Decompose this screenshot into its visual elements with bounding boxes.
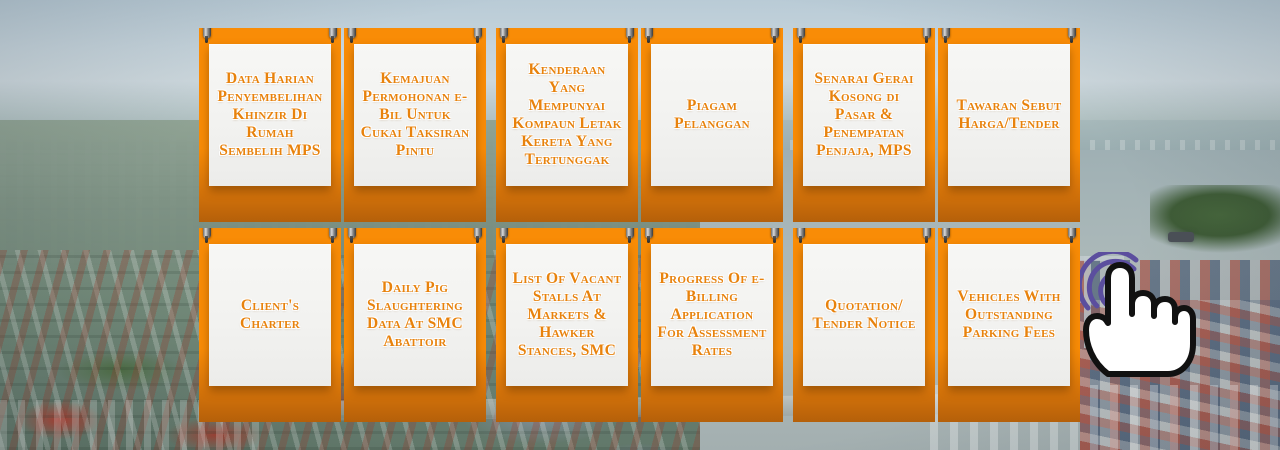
- card-sheet[interactable]: Quotation/ Tender Notice: [803, 244, 925, 386]
- pin-icon: [203, 28, 211, 38]
- pin-icon: [771, 228, 779, 238]
- pin-icon: [942, 228, 950, 238]
- pin-icon: [474, 28, 482, 38]
- card-title: Client's Charter: [209, 297, 331, 333]
- pin-icon: [348, 28, 356, 38]
- card-title: Daily Pig Slaughtering Data At SMC Abatt…: [354, 279, 476, 351]
- card-sheet[interactable]: List Of Vacant Stalls At Markets & Hawke…: [506, 244, 628, 386]
- pin-icon: [203, 228, 211, 238]
- pin-icon: [797, 228, 805, 238]
- card-panel[interactable]: Senarai Gerai Kosong di Pasar & Penempat…: [793, 28, 935, 222]
- card-row-bottom: Client's CharterDaily Pig Slaughtering D…: [0, 228, 1280, 422]
- card-panel[interactable]: Kenderaan Yang Mempunyai Kompaun Letak K…: [496, 28, 638, 222]
- card-sheet[interactable]: Kenderaan Yang Mempunyai Kompaun Letak K…: [506, 44, 628, 186]
- card-sheet[interactable]: Tawaran Sebut Harga/Tender: [948, 44, 1070, 186]
- card-title: Vehicles With Outstanding Parking Fees: [948, 288, 1070, 342]
- card-panel[interactable]: Quotation/ Tender Notice: [793, 228, 935, 422]
- card-panel[interactable]: Tawaran Sebut Harga/Tender: [938, 28, 1080, 222]
- pin-icon: [771, 28, 779, 38]
- card-sheet[interactable]: Piagam Pelanggan: [651, 44, 773, 186]
- card-panel[interactable]: List Of Vacant Stalls At Markets & Hawke…: [496, 228, 638, 422]
- card-title: Kenderaan Yang Mempunyai Kompaun Letak K…: [506, 61, 628, 169]
- card-panel[interactable]: Piagam Pelanggan: [641, 28, 783, 222]
- card-panel[interactable]: Kemajuan Permohonan e-Bil Untuk Cukai Ta…: [344, 28, 486, 222]
- pin-icon: [923, 28, 931, 38]
- card-title: Tawaran Sebut Harga/Tender: [948, 97, 1070, 133]
- page-stage: Data Harian Penyembelihan Khinzir Di Rum…: [0, 0, 1280, 450]
- pin-icon: [626, 228, 634, 238]
- card-panel[interactable]: Data Harian Penyembelihan Khinzir Di Rum…: [199, 28, 341, 222]
- pin-icon: [645, 28, 653, 38]
- pin-icon: [329, 28, 337, 38]
- pin-icon: [645, 228, 653, 238]
- pin-icon: [797, 28, 805, 38]
- card-sheet[interactable]: Senarai Gerai Kosong di Pasar & Penempat…: [803, 44, 925, 186]
- pin-icon: [500, 228, 508, 238]
- card-panel[interactable]: Progress Of e-Billing Application For As…: [641, 228, 783, 422]
- pin-icon: [1068, 28, 1076, 38]
- card-sheet[interactable]: Progress Of e-Billing Application For As…: [651, 244, 773, 386]
- card-sheet[interactable]: Client's Charter: [209, 244, 331, 386]
- card-title: Quotation/ Tender Notice: [803, 297, 925, 333]
- card-sheet[interactable]: Data Harian Penyembelihan Khinzir Di Rum…: [209, 44, 331, 186]
- card-panel[interactable]: Client's Charter: [199, 228, 341, 422]
- pin-icon: [923, 228, 931, 238]
- card-sheet[interactable]: Daily Pig Slaughtering Data At SMC Abatt…: [354, 244, 476, 386]
- pin-icon: [942, 28, 950, 38]
- card-title: Data Harian Penyembelihan Khinzir Di Rum…: [209, 70, 331, 160]
- card-panel[interactable]: Daily Pig Slaughtering Data At SMC Abatt…: [344, 228, 486, 422]
- pin-icon: [329, 228, 337, 238]
- pin-icon: [626, 28, 634, 38]
- card-title: Senarai Gerai Kosong di Pasar & Penempat…: [803, 70, 925, 160]
- pin-icon: [474, 228, 482, 238]
- card-row-top: Data Harian Penyembelihan Khinzir Di Rum…: [0, 28, 1280, 222]
- card-sheet[interactable]: Kemajuan Permohonan e-Bil Untuk Cukai Ta…: [354, 44, 476, 186]
- card-title: Progress Of e-Billing Application For As…: [651, 270, 773, 360]
- pin-icon: [348, 228, 356, 238]
- card-title: List Of Vacant Stalls At Markets & Hawke…: [506, 270, 628, 360]
- card-sheet[interactable]: Vehicles With Outstanding Parking Fees: [948, 244, 1070, 386]
- card-title: Piagam Pelanggan: [651, 97, 773, 133]
- card-panel[interactable]: Vehicles With Outstanding Parking Fees: [938, 228, 1080, 422]
- pin-icon: [1068, 228, 1076, 238]
- pin-icon: [500, 28, 508, 38]
- card-title: Kemajuan Permohonan e-Bil Untuk Cukai Ta…: [354, 70, 476, 160]
